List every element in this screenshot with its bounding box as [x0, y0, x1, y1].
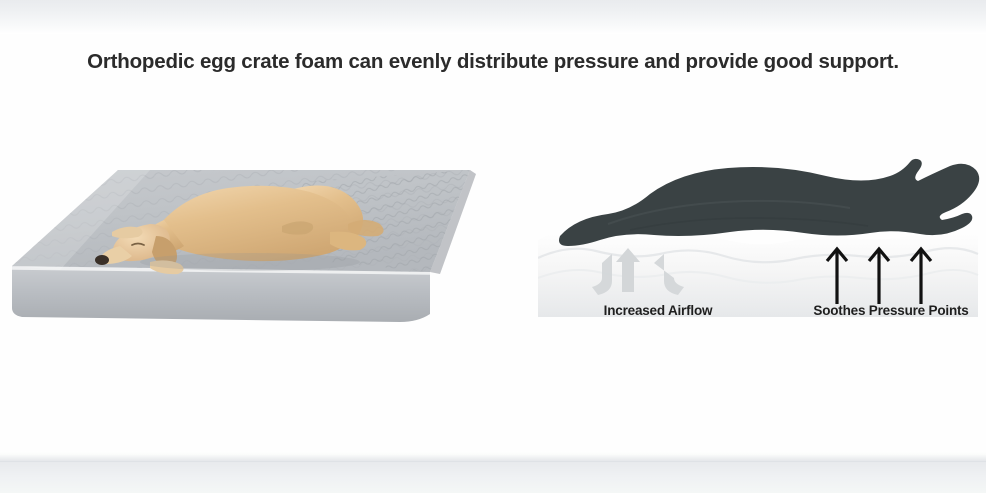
page-title: Orthopedic egg crate foam can evenly dis… — [0, 50, 986, 74]
foam-pressure-diagram — [538, 132, 986, 317]
top-gradient-band — [0, 0, 986, 34]
dog-bed-photo — [0, 112, 520, 340]
infographic-canvas: Orthopedic egg crate foam can evenly dis… — [0, 0, 986, 493]
foam-diagram-illustration — [538, 132, 986, 317]
hardness-scale: Too soft 1 Lack of support Moderate hard… — [0, 360, 986, 450]
bottom-gradient-band — [0, 451, 986, 493]
dog-bed-illustration — [0, 112, 520, 340]
pressure-label: Soothes Pressure Points — [795, 303, 986, 318]
airflow-label: Increased Airflow — [563, 303, 753, 318]
